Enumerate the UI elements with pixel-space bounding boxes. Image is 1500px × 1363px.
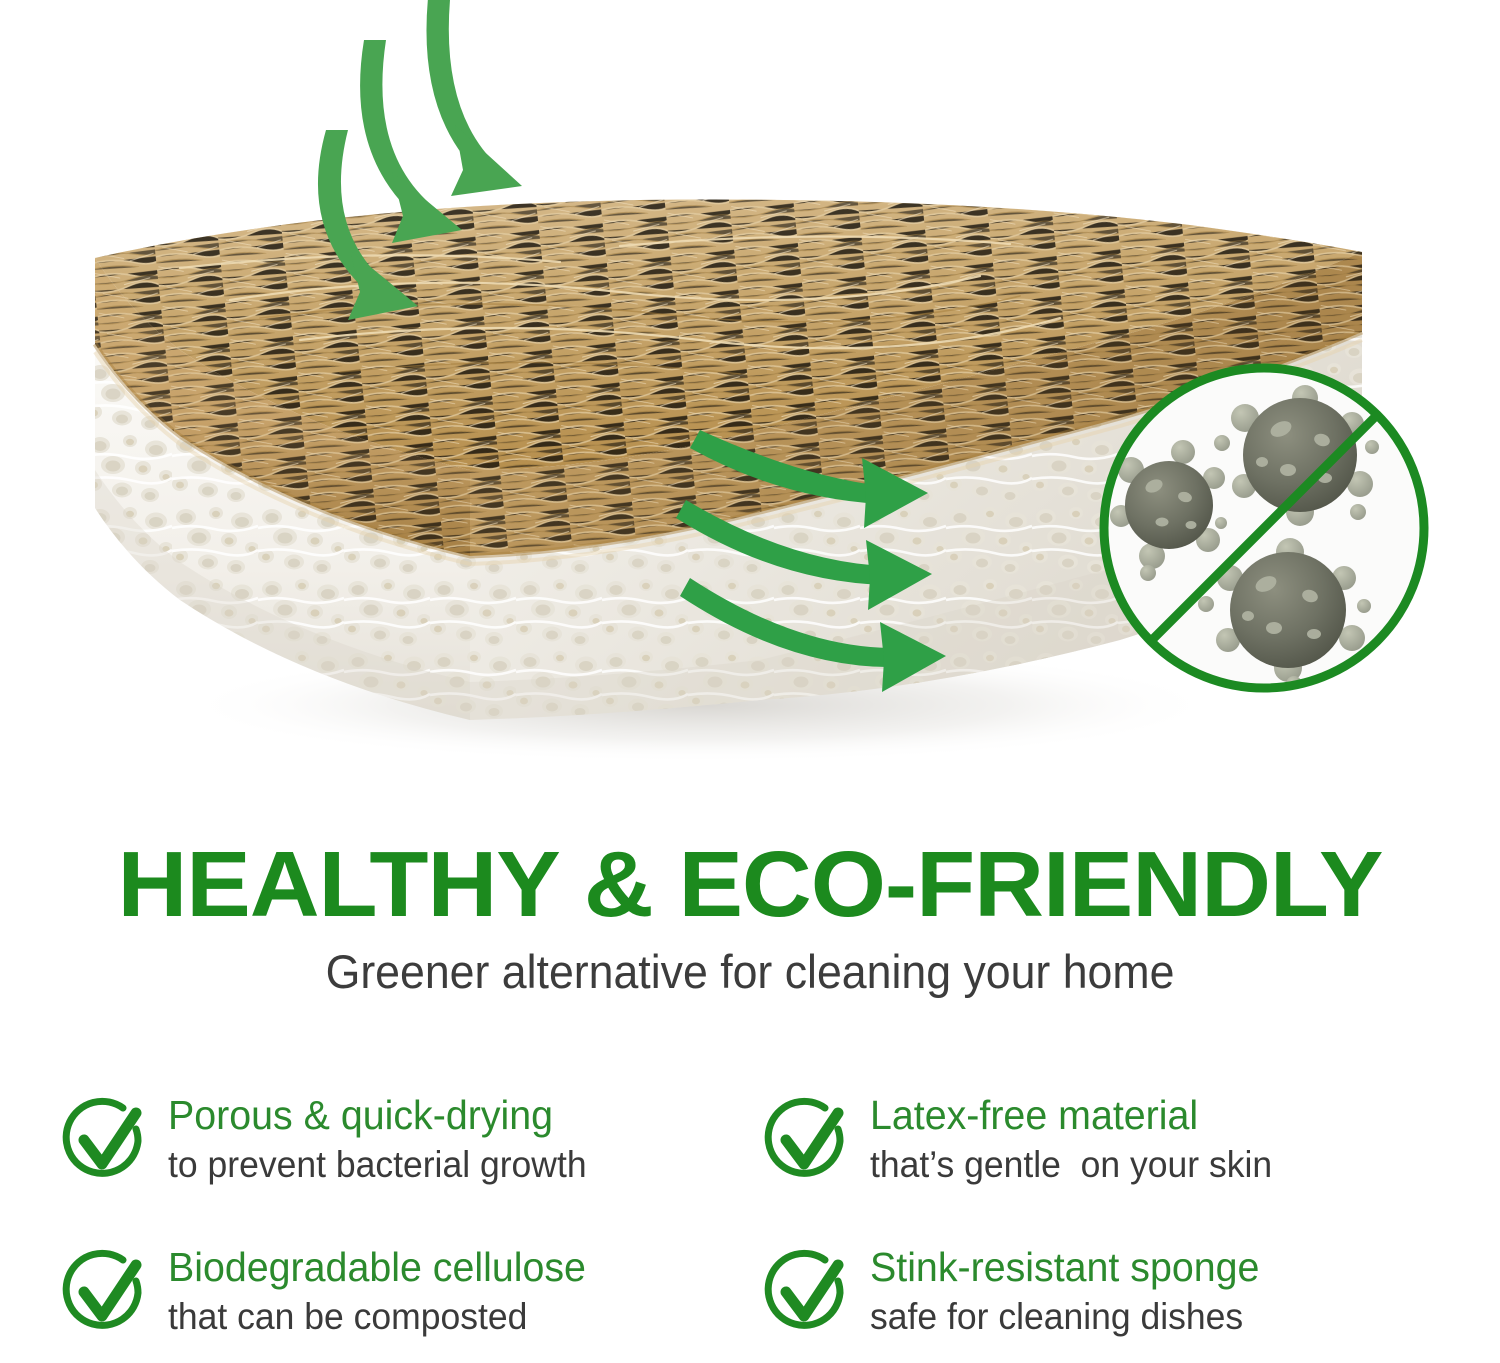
feature-subtitle: that’s gentle on your skin bbox=[870, 1142, 1272, 1188]
feature-item-biodegradable: Biodegradable cellulose that can be comp… bbox=[0, 1242, 752, 1363]
product-hero-image bbox=[0, 0, 1500, 820]
no-bacteria-badge bbox=[1096, 368, 1424, 692]
curved-down-arrow-icon bbox=[426, 0, 522, 196]
feature-subtitle: to prevent bacterial growth bbox=[168, 1142, 587, 1188]
sponge-cross-section-illustration bbox=[0, 0, 1500, 820]
feature-subtitle: that can be composted bbox=[168, 1294, 586, 1340]
feature-subtitle: safe for cleaning dishes bbox=[870, 1294, 1259, 1340]
check-circle-icon bbox=[762, 1090, 870, 1186]
feature-title: Biodegradable cellulose bbox=[168, 1244, 586, 1291]
feature-item-stink-resistant: Stink-resistant sponge safe for cleaning… bbox=[762, 1242, 1500, 1363]
check-circle-icon bbox=[60, 1090, 168, 1186]
page-title: HEALTHY & ECO-FRIENDLY bbox=[0, 836, 1500, 932]
feature-item-porous: Porous & quick-drying to prevent bacteri… bbox=[0, 1090, 752, 1242]
feature-title: Stink-resistant sponge bbox=[870, 1244, 1259, 1291]
page-subtitle: Greener alternative for cleaning your ho… bbox=[38, 946, 1463, 998]
feature-item-latex-free: Latex-free material that’s gentle on you… bbox=[762, 1090, 1500, 1242]
check-circle-icon bbox=[762, 1242, 870, 1338]
feature-title: Porous & quick-drying bbox=[168, 1092, 587, 1139]
check-circle-icon bbox=[60, 1242, 168, 1338]
feature-title: Latex-free material bbox=[870, 1092, 1272, 1139]
headline-block: HEALTHY & ECO-FRIENDLY Greener alternati… bbox=[0, 836, 1500, 998]
feature-list: Porous & quick-drying to prevent bacteri… bbox=[0, 1090, 1500, 1363]
